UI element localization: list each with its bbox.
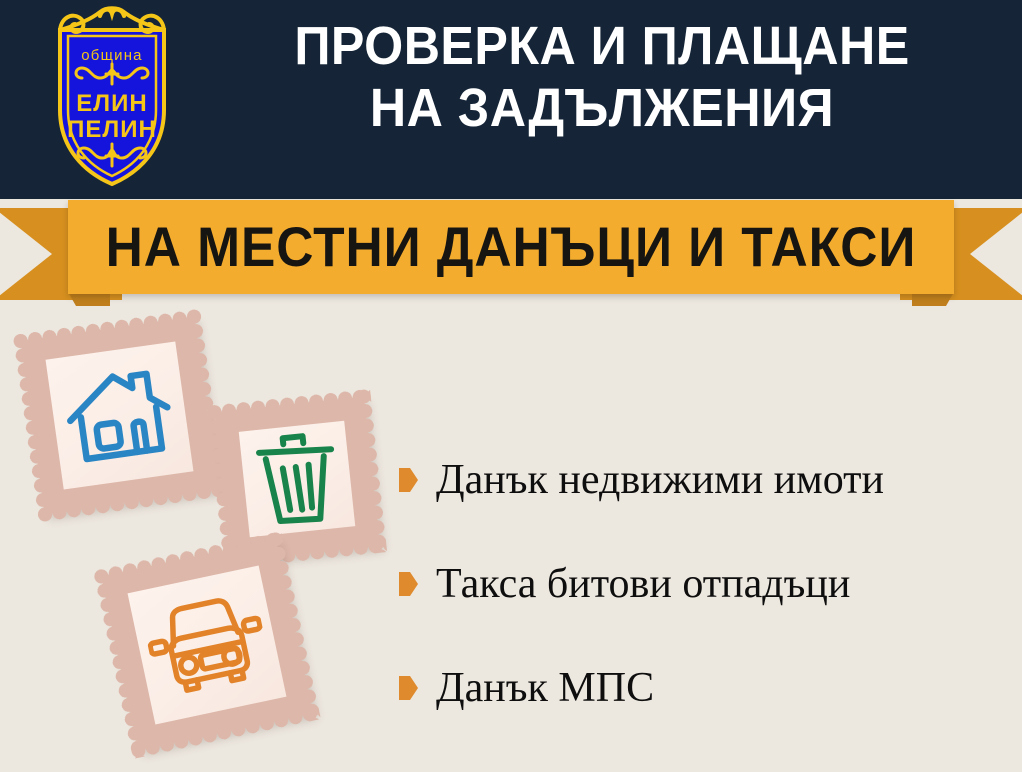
svg-text:ЕЛИН: ЕЛИН [76,90,147,117]
list-item: Данък МПС [399,636,1009,740]
stamp-inner-area [128,566,287,725]
list-item: Данък недвижими имоти [399,428,1009,532]
car-front-icon [141,588,274,702]
stamp-card-vehicle [101,539,312,750]
list-item-label: Данък недвижими имоти [436,459,884,501]
page-title: ПРОВЕРКА И ПЛАЩАНЕ НА ЗАДЪЛЖЕНИЯ [221,16,984,139]
coat-of-arms-icon: община ЕЛИН ПЕЛИН [44,6,180,192]
house-icon [57,358,182,473]
stamp-inner-area [46,342,194,490]
arrow-bullet-icon [399,676,418,700]
stamp-card-waste [215,397,380,562]
header-bar: община ЕЛИН ПЕЛИН ПРОВЕРКА И ПЛАЩАНЕ НА … [0,0,1022,199]
arrow-bullet-icon [399,572,418,596]
ribbon-fold-left [68,292,110,306]
page-title-line-1: ПРОВЕРКА И ПЛАЩАНЕ [221,16,984,78]
svg-text:община: община [81,47,142,64]
list-item: Такса битови отпадъци [399,532,1009,636]
stamp-card-property [21,317,219,515]
arrow-bullet-icon [399,468,418,492]
ribbon-banner: НА МЕСТНИ ДАНЪЦИ И ТАКСИ [0,199,1022,309]
ribbon-main-panel: НА МЕСТНИ ДАНЪЦИ И ТАКСИ [68,200,954,294]
ribbon-subtitle: НА МЕСТНИ ДАНЪЦИ И ТАКСИ [103,200,918,294]
trash-bin-icon [249,427,345,531]
page-title-line-2: НА ЗАДЪЛЖЕНИЯ [221,78,984,140]
tax-types-list: Данък недвижими имоти Такса битови отпад… [399,428,1009,740]
ribbon-fold-right [912,292,954,306]
svg-text:ПЕЛИН: ПЕЛИН [67,116,157,143]
stamp-inner-area [239,421,355,537]
list-item-label: Такса битови отпадъци [436,563,850,605]
list-item-label: Данък МПС [436,667,654,709]
